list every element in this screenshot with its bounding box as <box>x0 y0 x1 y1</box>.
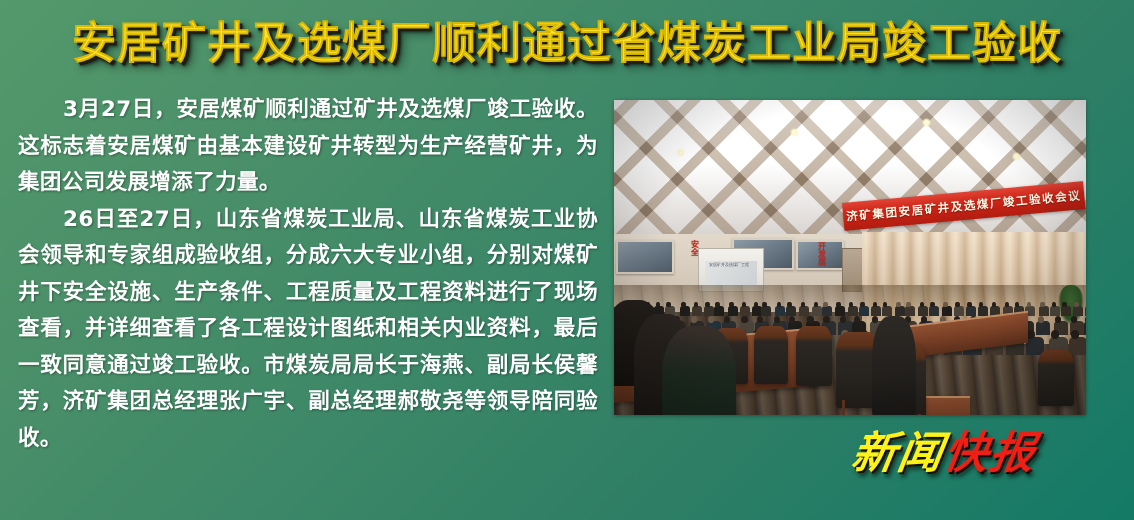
audience-person <box>799 306 809 316</box>
audience-person-head <box>1071 330 1079 339</box>
audience-person <box>812 306 822 316</box>
wall-picture <box>616 240 674 274</box>
ceiling-downlight <box>1012 152 1021 161</box>
audience-person-head <box>943 302 947 307</box>
audience-person-head <box>666 302 670 307</box>
news-banner-page: 安居矿井及选煤厂顺利通过省煤炭工业局竣工验收 3月27日，安居煤矿顺利通过矿井及… <box>0 0 1134 520</box>
audience-person <box>978 306 988 316</box>
audience-person-head <box>979 302 983 307</box>
audience-person <box>918 306 928 316</box>
logo-part-yellow: 新闻 <box>848 428 948 479</box>
audience-person <box>692 306 702 316</box>
audience-person-head <box>787 302 791 307</box>
audience-person <box>1050 306 1060 316</box>
audience-person-head <box>1038 316 1044 323</box>
audience-person-head <box>691 316 697 323</box>
audience-person-head <box>741 316 747 323</box>
audience-person-head <box>1085 316 1086 323</box>
audience-person-head <box>754 302 758 307</box>
audience-person-head <box>757 316 763 323</box>
audience-person <box>775 306 785 316</box>
page-title: 安居矿井及选煤厂顺利通过省煤炭工业局竣工验收 <box>0 8 1134 80</box>
audience-person-head <box>656 302 660 307</box>
audience-person-head <box>930 302 934 307</box>
audience-person <box>728 306 738 316</box>
wall-text-right: 开发展 <box>817 242 826 266</box>
audience-person-head <box>823 302 827 307</box>
audience-person-head <box>777 302 781 307</box>
audience-person-head <box>854 316 860 323</box>
audience-person-head <box>920 302 924 307</box>
audience-person <box>822 306 832 316</box>
audience-person <box>1036 321 1050 335</box>
audience-person-head <box>705 302 709 307</box>
audience-person-head <box>860 302 864 307</box>
foreground-person <box>662 326 736 415</box>
audience-person <box>1084 321 1086 335</box>
audience-person-head <box>708 316 714 323</box>
audience-person-head <box>840 316 846 323</box>
audience-person-head <box>801 302 805 307</box>
audience-person <box>966 306 976 316</box>
audience-person-head <box>1005 302 1009 307</box>
audience-person-head <box>762 302 766 307</box>
audience-person-head <box>715 302 719 307</box>
audience-person-head <box>836 302 840 307</box>
audience-person <box>740 306 750 316</box>
audience-person-head <box>1071 316 1077 323</box>
audience-person-head <box>814 302 818 307</box>
logo-part-red: 快报 <box>940 428 1040 479</box>
audience-person <box>761 306 771 316</box>
audience-person <box>786 306 796 316</box>
audience-person-head <box>1027 330 1035 339</box>
audience-person-head <box>967 302 971 307</box>
projection-screen-text: 安居矿井及选煤厂工程 <box>709 262 749 268</box>
audience-person-head <box>955 302 959 307</box>
chair-leg <box>918 414 921 415</box>
audience-person <box>1069 337 1086 355</box>
audience-person <box>1085 306 1086 316</box>
audience-person-head <box>1062 302 1066 307</box>
audience-person <box>882 306 892 316</box>
audience-person <box>929 306 939 316</box>
audience-person <box>954 306 964 316</box>
audience-person <box>714 306 724 316</box>
audience-person-head <box>1052 302 1056 307</box>
audience-person-head <box>1040 302 1044 307</box>
audience-person <box>680 306 690 316</box>
ceiling-downlight <box>790 128 799 137</box>
audience-person-head <box>729 302 733 307</box>
audience-person-head <box>789 316 795 323</box>
page-title-text: 安居矿井及选煤厂顺利通过省煤炭工业局竣工验收 <box>72 22 1062 66</box>
audience-person-head <box>724 316 730 323</box>
photo-content: 安全 开发展 安居矿井及选煤厂工程 济矿集团安居矿井及选煤厂竣工验收会议 <box>614 100 1086 415</box>
audience-person-head <box>807 316 813 323</box>
audience-person <box>942 306 952 316</box>
audience-person <box>905 306 915 316</box>
audience-person-head <box>896 302 900 307</box>
chair <box>1038 350 1074 406</box>
ceiling-downlight <box>922 118 931 127</box>
audience-person-head <box>873 302 877 307</box>
audience-person <box>1073 306 1083 316</box>
audience-person-head <box>1055 316 1061 323</box>
audience-person-head <box>921 316 927 323</box>
audience-person-head <box>823 316 829 323</box>
audience-person-head <box>906 302 910 307</box>
audience-person-head <box>872 316 878 323</box>
audience-person-head <box>849 302 853 307</box>
audience-person <box>871 306 881 316</box>
chair <box>796 326 832 386</box>
audience-person-head <box>681 302 685 307</box>
audience-person <box>848 306 858 316</box>
audience-person-head <box>1015 302 1019 307</box>
audience-person <box>835 306 845 316</box>
audience-person <box>1039 306 1049 316</box>
conference-photo: 安全 开发展 安居矿井及选煤厂工程 济矿集团安居矿井及选煤厂竣工验收会议 <box>614 100 1086 415</box>
article-body: 3月27日，安居煤矿顺利通过矿井及选煤厂竣工验收。这标志着安居煤矿由基本建设矿井… <box>18 92 598 457</box>
audience-person <box>895 306 905 316</box>
audience-person-head <box>1027 302 1031 307</box>
audience-person-head <box>1051 330 1059 339</box>
audience-person <box>1061 306 1071 316</box>
news-flash-logo: 新闻快报 <box>849 432 1040 476</box>
audience-person-head <box>694 302 698 307</box>
article-paragraph-2: 26日至27日，山东省煤炭工业局、山东省煤炭工业协会领导和专家组成验收组，分成六… <box>18 202 598 458</box>
audience-person-head <box>1074 302 1078 307</box>
audience-person-head <box>742 302 746 307</box>
article-paragraph-1: 3月27日，安居煤矿顺利通过矿井及选煤厂竣工验收。这标志着安居煤矿由基本建设矿井… <box>18 92 598 202</box>
audience-person <box>859 306 869 316</box>
audience-person <box>704 306 714 316</box>
chair <box>754 326 788 384</box>
foreground-person <box>872 316 916 415</box>
chair-leg <box>842 400 845 415</box>
audience-person-head <box>774 316 780 323</box>
audience-person-head <box>883 302 887 307</box>
ceiling-downlight <box>676 148 685 157</box>
audience-person-head <box>992 302 996 307</box>
